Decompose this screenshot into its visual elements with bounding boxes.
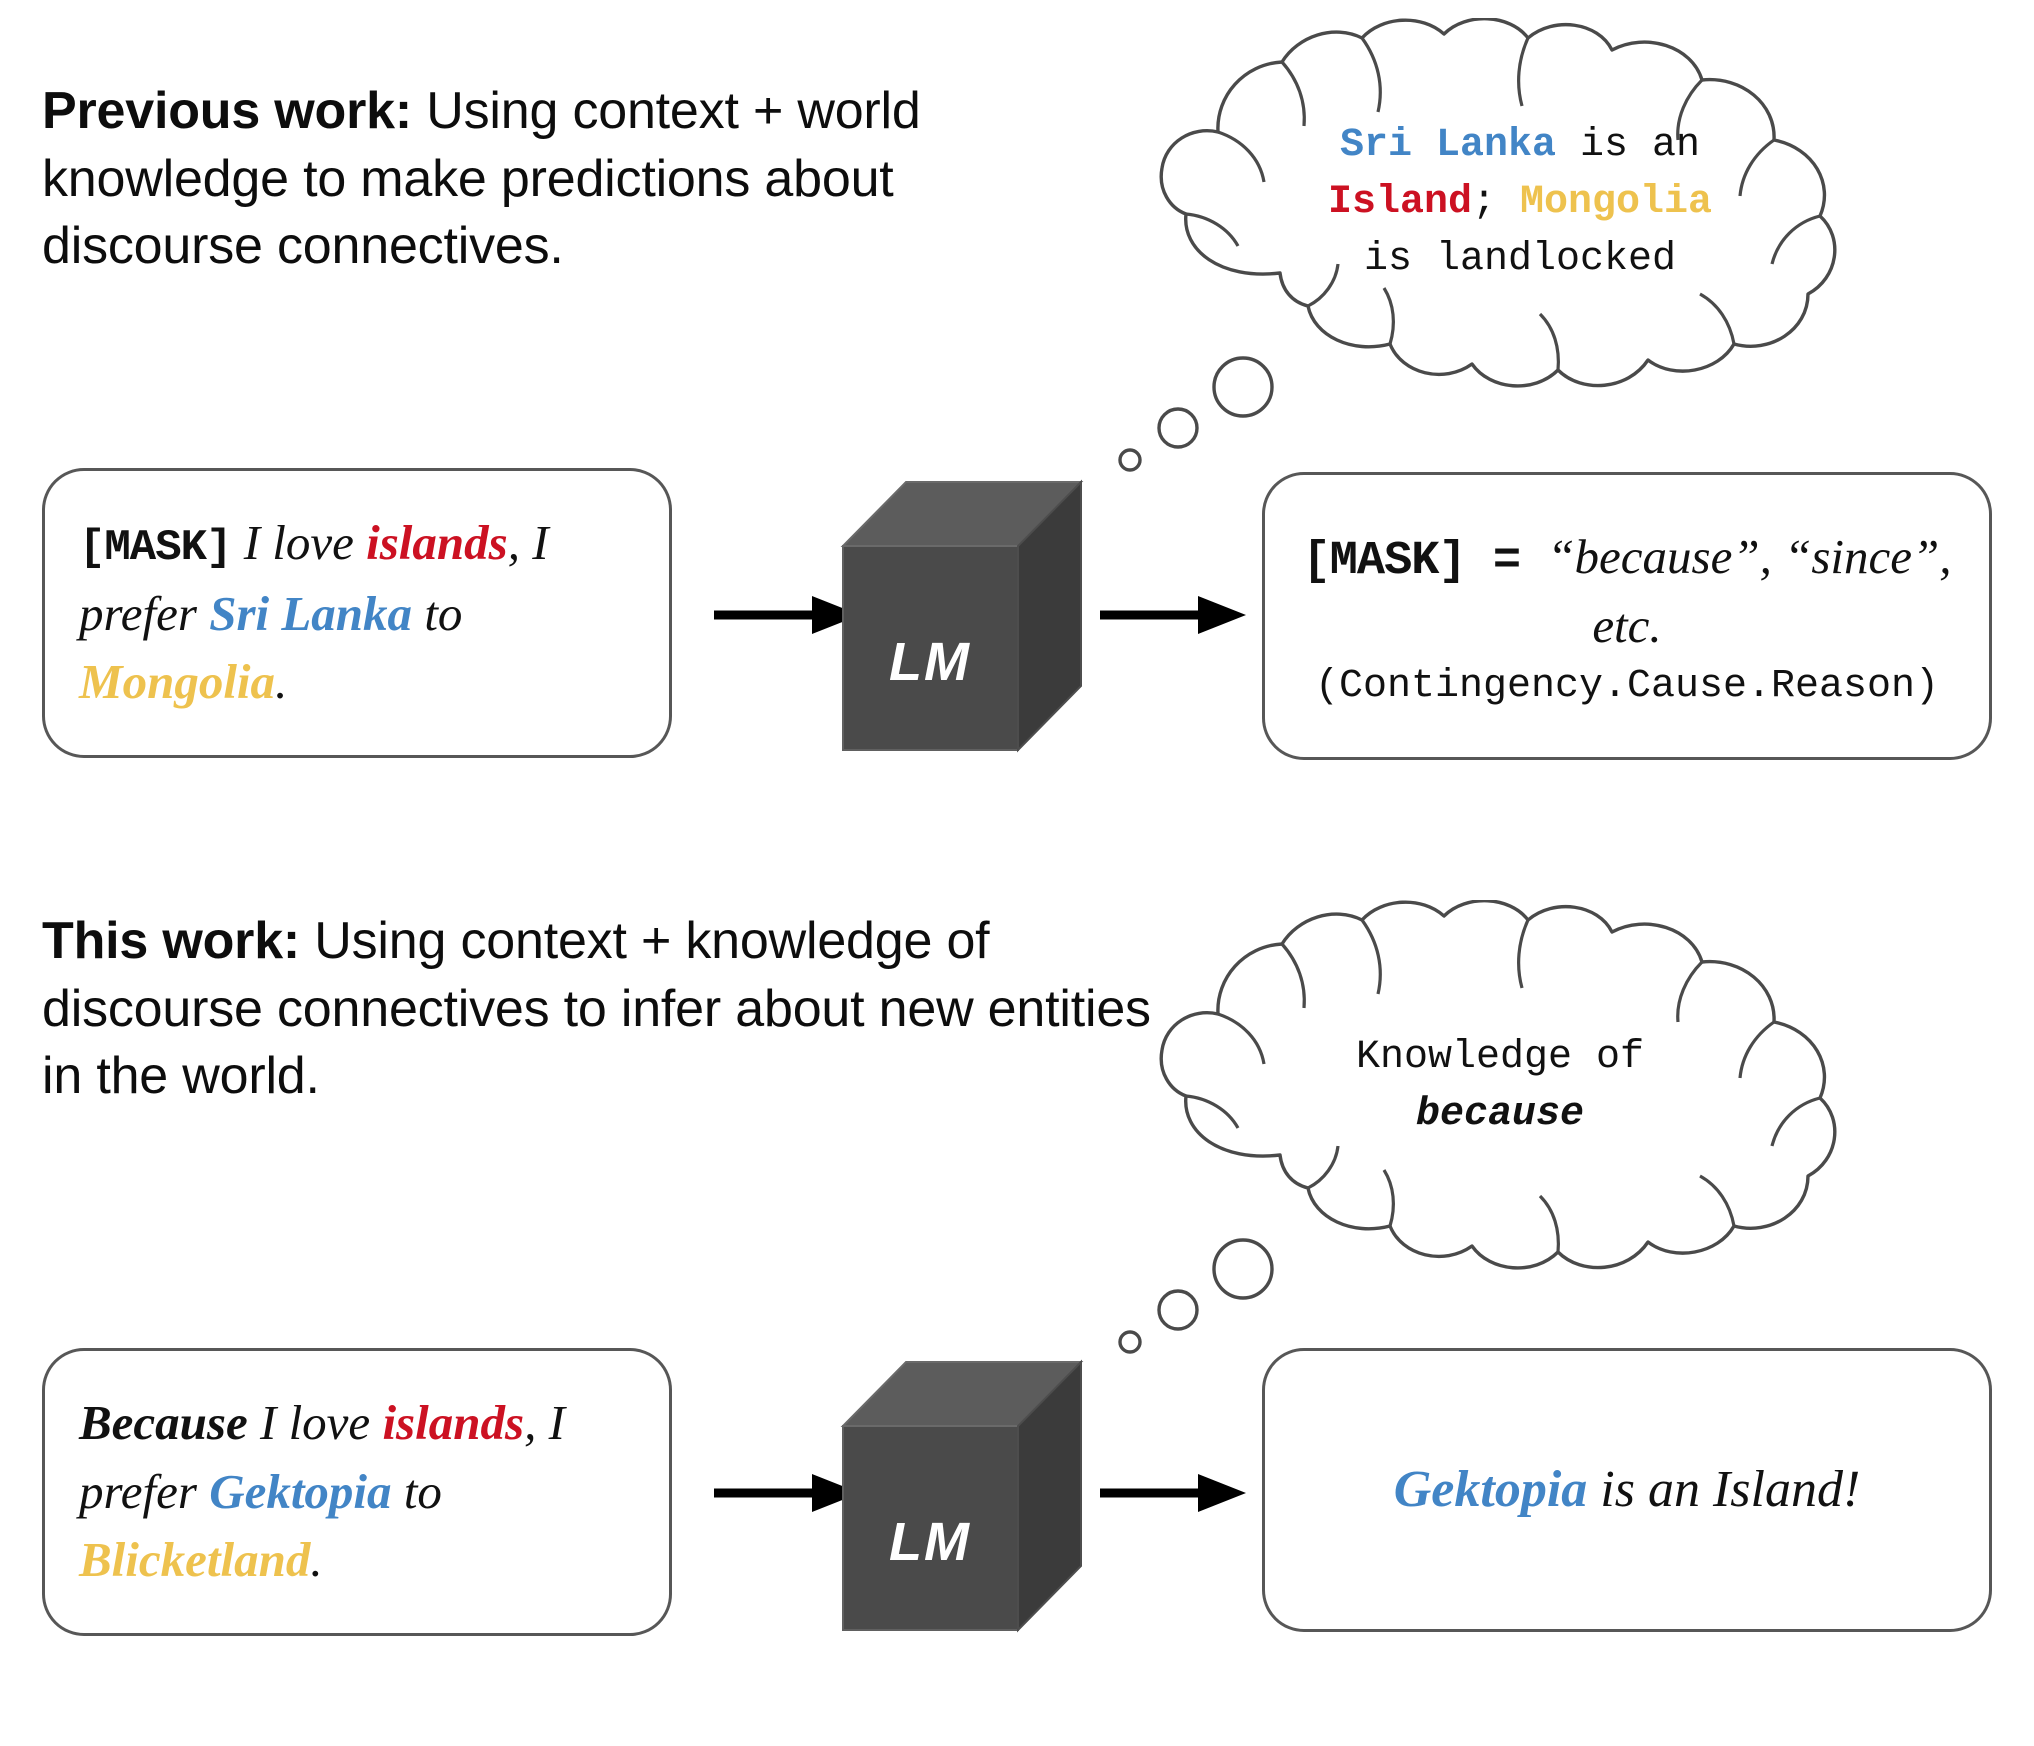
connective-because: Because: [79, 1395, 248, 1450]
previous-output-text: [MASK] = “because”, “since”, etc. (Conti…: [1265, 523, 1989, 710]
cube-label-previous: LM: [889, 632, 971, 692]
this-output-box: Gektopia is an Island!: [1262, 1348, 1992, 1632]
previous-input-box: [MASK] I love islands, I prefer Sri Lank…: [42, 468, 672, 758]
mask-equals-token: [MASK] =: [1302, 535, 1547, 588]
language-model-cube-this: LM: [838, 1348, 1088, 1638]
this-input-t4: .: [310, 1532, 322, 1587]
thought-this-connective: because: [1416, 1092, 1584, 1137]
previous-output-quoted: “because”, “since”, etc.: [1547, 529, 1951, 653]
heading-previous-work: Previous work: Using context + world kno…: [42, 78, 1102, 281]
entity-islands: islands: [366, 515, 508, 570]
language-model-cube-previous: LM: [838, 468, 1088, 758]
thought-entity-mongolia: Mongolia: [1520, 180, 1712, 225]
thought-tail-previous: [1090, 330, 1310, 500]
previous-input-t3: to: [412, 586, 462, 641]
entity-blicketland: Blicketland: [79, 1532, 310, 1587]
figure-canvas: Previous work: Using context + world kno…: [0, 0, 2034, 1746]
heading-this-lead: This work:: [42, 912, 300, 970]
mask-token: [MASK]: [79, 523, 231, 573]
thought-entity-sri-lanka: Sri Lanka: [1340, 123, 1556, 168]
heading-this-work: This work: Using context + knowledge of …: [42, 908, 1152, 1111]
thought-text-3: is landlocked: [1364, 237, 1676, 282]
this-input-text: Because I love islands, I prefer Gektopi…: [45, 1389, 669, 1595]
arrow-model-to-output-previous: [1098, 590, 1248, 640]
this-input-t1: I love: [248, 1395, 383, 1450]
this-input-t3: to: [392, 1464, 442, 1519]
arrow-model-to-output-this: [1098, 1468, 1248, 1518]
output-rest: is an Island!: [1587, 1461, 1860, 1518]
this-output-text: Gektopia is an Island!: [1265, 1454, 1989, 1527]
previous-input-t4: .: [275, 654, 287, 709]
previous-input-t1: I love: [231, 515, 366, 570]
entity-islands-2: islands: [382, 1395, 524, 1450]
this-input-box: Because I love islands, I prefer Gektopi…: [42, 1348, 672, 1636]
previous-output-box: [MASK] = “because”, “since”, etc. (Conti…: [1262, 472, 1992, 760]
thought-bubble-this-text: Knowledge of because: [1250, 1030, 1750, 1144]
entity-gektopia: Gektopia: [209, 1464, 391, 1519]
thought-this-line1: Knowledge of: [1356, 1035, 1644, 1080]
cube-label-this: LM: [889, 1512, 971, 1572]
thought-text-1: is an: [1556, 123, 1700, 168]
output-entity-gektopia: Gektopia: [1394, 1461, 1588, 1518]
heading-previous-lead: Previous work:: [42, 82, 412, 140]
previous-input-text: [MASK] I love islands, I prefer Sri Lank…: [45, 509, 669, 717]
thought-entity-island: Island: [1328, 180, 1472, 225]
previous-output-sense: (Contingency.Cause.Reason): [1299, 664, 1955, 709]
thought-text-2: ;: [1472, 180, 1520, 225]
entity-mongolia: Mongolia: [79, 654, 275, 709]
entity-sri-lanka: Sri Lanka: [209, 586, 412, 641]
thought-bubble-previous-text: Sri Lanka is an Island; Mongolia is land…: [1270, 118, 1770, 288]
